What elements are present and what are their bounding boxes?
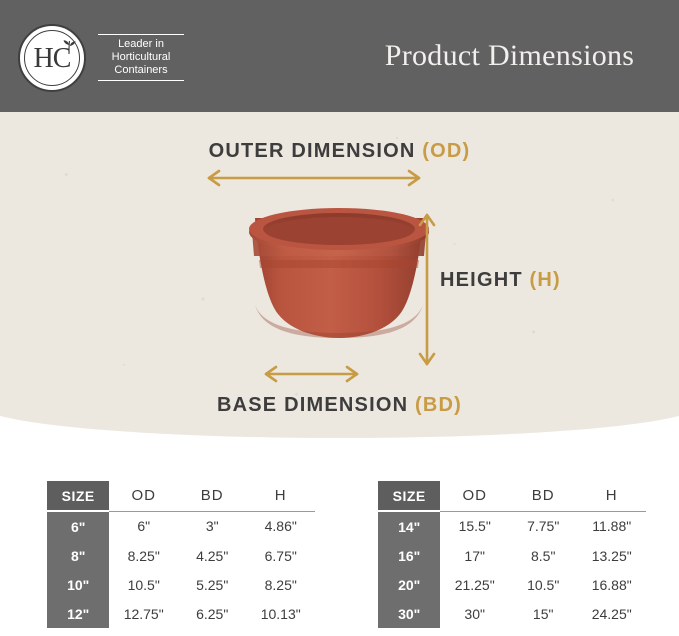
size-chart-table-left: SIZE OD BD H 6" 6" 3" 4.86" 8" 8.25" 4.2… [47, 481, 315, 628]
table-row: 20" 21.25" 10.5" 16.88" [378, 570, 646, 599]
cell-h: 16.88" [577, 570, 646, 599]
table-row: 10" 10.5" 5.25" 8.25" [47, 570, 315, 599]
pot-rim-inner-shadow [265, 217, 413, 245]
cell-h: 11.88" [577, 511, 646, 541]
cell-h: 6.75" [246, 541, 315, 570]
cell-size: 12" [47, 599, 109, 628]
column-header-h: H [246, 481, 315, 511]
size-chart-table-right: SIZE OD BD H 14" 15.5" 7.75" 11.88" 16" … [378, 481, 646, 628]
cell-bd: 3" [178, 511, 247, 541]
diagram-panel: OUTER DIMENSION (OD) HEIGHT (H) BASE DIM… [0, 112, 679, 438]
logo-tagline-line-1: Leader in [98, 38, 184, 51]
cell-od: 10.5" [109, 570, 178, 599]
outer-dimension-text: OUTER DIMENSION [209, 140, 416, 162]
cell-od: 12.75" [109, 599, 178, 628]
table-body: 14" 15.5" 7.75" 11.88" 16" 17" 8.5" 13.2… [378, 511, 646, 628]
cell-bd: 7.75" [509, 511, 578, 541]
leaf-sprout-icon [58, 39, 80, 55]
column-header-od: OD [440, 481, 509, 511]
cell-size: 20" [378, 570, 440, 599]
cell-size: 10" [47, 570, 109, 599]
cell-od: 6" [109, 511, 178, 541]
base-dimension-label: BASE DIMENSION (BD) [0, 394, 679, 417]
cell-size: 8" [47, 541, 109, 570]
table-row: 14" 15.5" 7.75" 11.88" [378, 511, 646, 541]
cell-bd: 10.5" [509, 570, 578, 599]
table-head: SIZE OD BD H [378, 481, 646, 511]
cell-od: 30" [440, 599, 509, 628]
base-dimension-text: BASE DIMENSION [217, 394, 408, 416]
logo-tagline-line-3: Containers [98, 64, 184, 77]
table-row: 6" 6" 3" 4.86" [47, 511, 315, 541]
cell-bd: 6.25" [178, 599, 247, 628]
table-header-row: SIZE OD BD H [378, 481, 646, 511]
table-header-row: SIZE OD BD H [47, 481, 315, 511]
column-header-size: SIZE [378, 481, 440, 511]
cell-bd: 5.25" [178, 570, 247, 599]
cell-od: 17" [440, 541, 509, 570]
cell-od: 8.25" [109, 541, 178, 570]
column-header-h: H [577, 481, 646, 511]
table-row: 12" 12.75" 6.25" 10.13" [47, 599, 315, 628]
cell-h: 4.86" [246, 511, 315, 541]
logo-tagline-line-2: Horticultural [98, 51, 184, 64]
cell-size: 30" [378, 599, 440, 628]
column-header-od: OD [109, 481, 178, 511]
table-body: 6" 6" 3" 4.86" 8" 8.25" 4.25" 6.75" 10" … [47, 511, 315, 628]
cell-h: 13.25" [577, 541, 646, 570]
table-row: 8" 8.25" 4.25" 6.75" [47, 541, 315, 570]
column-header-bd: BD [178, 481, 247, 511]
table-head: SIZE OD BD H [47, 481, 315, 511]
outer-dimension-code: (OD) [422, 140, 470, 162]
cell-h: 24.25" [577, 599, 646, 628]
product-dimensions-infographic: HC Leader in Horticultural Containers Pr… [0, 0, 679, 636]
height-label: HEIGHT (H) [440, 269, 561, 292]
table-row: 16" 17" 8.5" 13.25" [378, 541, 646, 570]
cell-od: 15.5" [440, 511, 509, 541]
column-header-size: SIZE [47, 481, 109, 511]
cell-size: 6" [47, 511, 109, 541]
page-title: Product Dimensions [340, 0, 679, 112]
base-dimension-code: (BD) [415, 394, 462, 416]
cell-bd: 4.25" [178, 541, 247, 570]
height-text: HEIGHT [440, 269, 523, 291]
pot-ridge-band [259, 260, 419, 268]
outer-dimension-label: OUTER DIMENSION (OD) [0, 140, 679, 163]
cell-h: 8.25" [246, 570, 315, 599]
logo-circle-emblem: HC [18, 24, 86, 92]
cell-size: 16" [378, 541, 440, 570]
cell-bd: 8.5" [509, 541, 578, 570]
table-row: 30" 30" 15" 24.25" [378, 599, 646, 628]
header-bar: HC Leader in Horticultural Containers Pr… [0, 0, 679, 112]
brand-logo: HC Leader in Horticultural Containers [18, 20, 188, 95]
od-arrow [209, 171, 419, 185]
logo-tagline: Leader in Horticultural Containers [98, 34, 184, 81]
cell-h: 10.13" [246, 599, 315, 628]
column-header-bd: BD [509, 481, 578, 511]
height-code: (H) [530, 269, 561, 291]
cell-size: 14" [378, 511, 440, 541]
cell-bd: 15" [509, 599, 578, 628]
bd-arrow [266, 367, 357, 381]
cell-od: 21.25" [440, 570, 509, 599]
